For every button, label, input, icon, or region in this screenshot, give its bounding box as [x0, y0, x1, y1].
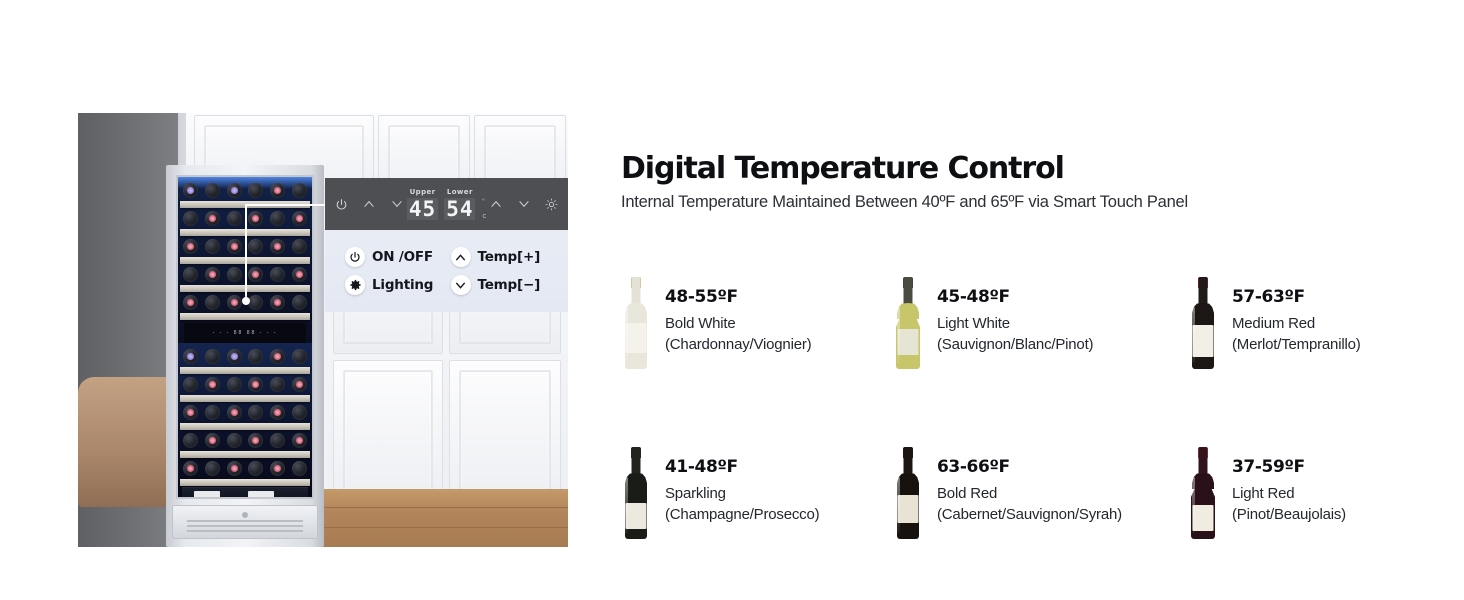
unit-indicators: º C [482, 198, 486, 220]
bottle-row [180, 375, 310, 394]
lighting-button[interactable]: Lighting [345, 275, 451, 295]
control-buttons-panel: ON /OFF Temp[+] Lighting Temp[−] [325, 230, 568, 312]
temperature-range: 45-48ºF [937, 287, 1093, 307]
callout-endpoint-dot [242, 297, 250, 305]
shelf [180, 423, 310, 430]
wine-card: 48-55ºF Bold White (Chardonnay/Viognier) [621, 277, 893, 369]
wine-type: Medium Red (Merlot/Tempranillo) [1232, 314, 1361, 355]
temp-down-button[interactable]: Temp[−] [451, 275, 557, 295]
temperature-range: 63-66ºF [937, 457, 1122, 477]
page-root: - - - 88 88 - - - [0, 0, 1464, 600]
wine-card: 45-48ºF Light White (Sauvignon/Blanc/Pin… [893, 277, 1188, 369]
chevron-up-icon[interactable] [489, 197, 503, 211]
upper-value: 45 [407, 198, 438, 220]
wine-bottle-icon [621, 447, 651, 539]
touch-panel-strip[interactable]: Upper 45 Lower 54 º C [325, 178, 568, 230]
temp-up-label: Temp[+] [478, 249, 541, 265]
chevron-down-icon[interactable] [390, 197, 404, 211]
cabinet-door [449, 360, 561, 510]
shelf [180, 313, 310, 320]
temperature-range: 37-59ºF [1232, 457, 1346, 477]
wine-type: Light White (Sauvignon/Blanc/Pinot) [937, 314, 1093, 355]
storage-drawer [182, 487, 308, 499]
interior-display: - - - 88 88 - - - [184, 323, 306, 343]
page-subtitle: Internal Temperature Maintained Between … [621, 193, 1421, 212]
on-off-button[interactable]: ON /OFF [345, 247, 451, 267]
gear-icon [345, 275, 365, 295]
chevron-down-icon [451, 275, 471, 295]
chevron-down-icon[interactable] [517, 197, 531, 211]
wine-card: 57-63ºF Medium Red (Merlot/Tempranillo) [1188, 277, 1421, 369]
on-off-label: ON /OFF [372, 249, 433, 265]
wine-bottle-icon [621, 277, 651, 369]
wine-bottle-icon [1188, 277, 1218, 369]
lighting-label: Lighting [372, 277, 433, 293]
bottle-row [180, 403, 310, 422]
power-icon [345, 247, 365, 267]
shelf [180, 451, 310, 458]
shelf [180, 367, 310, 374]
wine-card: 41-48ºF Sparkling (Champagne/Prosecco) [621, 447, 893, 539]
cabinet-door [333, 360, 443, 510]
headline-block: Digital Temperature Control Internal Tem… [621, 152, 1421, 212]
shelf [180, 479, 310, 486]
wine-bottle-icon [893, 277, 923, 369]
temp-down-label: Temp[−] [478, 277, 541, 293]
temperature-range: 57-63ºF [1232, 287, 1361, 307]
shelf [180, 395, 310, 402]
power-icon[interactable] [335, 198, 348, 211]
unit-celsius-marker: C [482, 214, 486, 220]
wine-card: 37-59ºF Light Red (Pinot/Beaujolais) [1188, 447, 1421, 539]
callout-line-vertical [245, 204, 247, 300]
wine-temperature-grid: 48-55ºF Bold White (Chardonnay/Viognier)… [621, 277, 1421, 539]
lower-label: Lower [444, 188, 475, 196]
chevron-up-icon [451, 247, 471, 267]
temperature-range: 41-48ºF [665, 457, 819, 477]
page-title: Digital Temperature Control [621, 152, 1421, 185]
upper-label: Upper [407, 188, 438, 196]
bottle-row [180, 347, 310, 366]
light-bulb-icon[interactable] [545, 198, 558, 211]
wine-type: Bold White (Chardonnay/Viognier) [665, 314, 811, 355]
wine-type: Sparkling (Champagne/Prosecco) [665, 484, 819, 525]
bottle-row [180, 459, 310, 478]
wine-type: Light Red (Pinot/Beaujolais) [1232, 484, 1346, 525]
temperature-range: 48-55ºF [665, 287, 811, 307]
lower-value: 54 [444, 198, 475, 220]
lower-zone-readout: Lower 54 [444, 188, 475, 220]
bottle-row [180, 431, 310, 450]
wine-bottle-icon [1188, 447, 1218, 539]
wine-card: 63-66ºF Bold Red (Cabernet/Sauvignon/Syr… [893, 447, 1188, 539]
chevron-up-icon[interactable] [362, 197, 376, 211]
bottle-row [180, 181, 310, 200]
cooler-base-vent [172, 505, 318, 539]
unit-degree-marker: º [482, 198, 486, 204]
temp-up-button[interactable]: Temp[+] [451, 247, 557, 267]
upper-zone-readout: Upper 45 [407, 188, 438, 220]
temperature-readouts: Upper 45 Lower 54 º C [407, 188, 486, 220]
wine-bottle-icon [893, 447, 923, 539]
wine-type: Bold Red (Cabernet/Sauvignon/Syrah) [937, 484, 1122, 525]
